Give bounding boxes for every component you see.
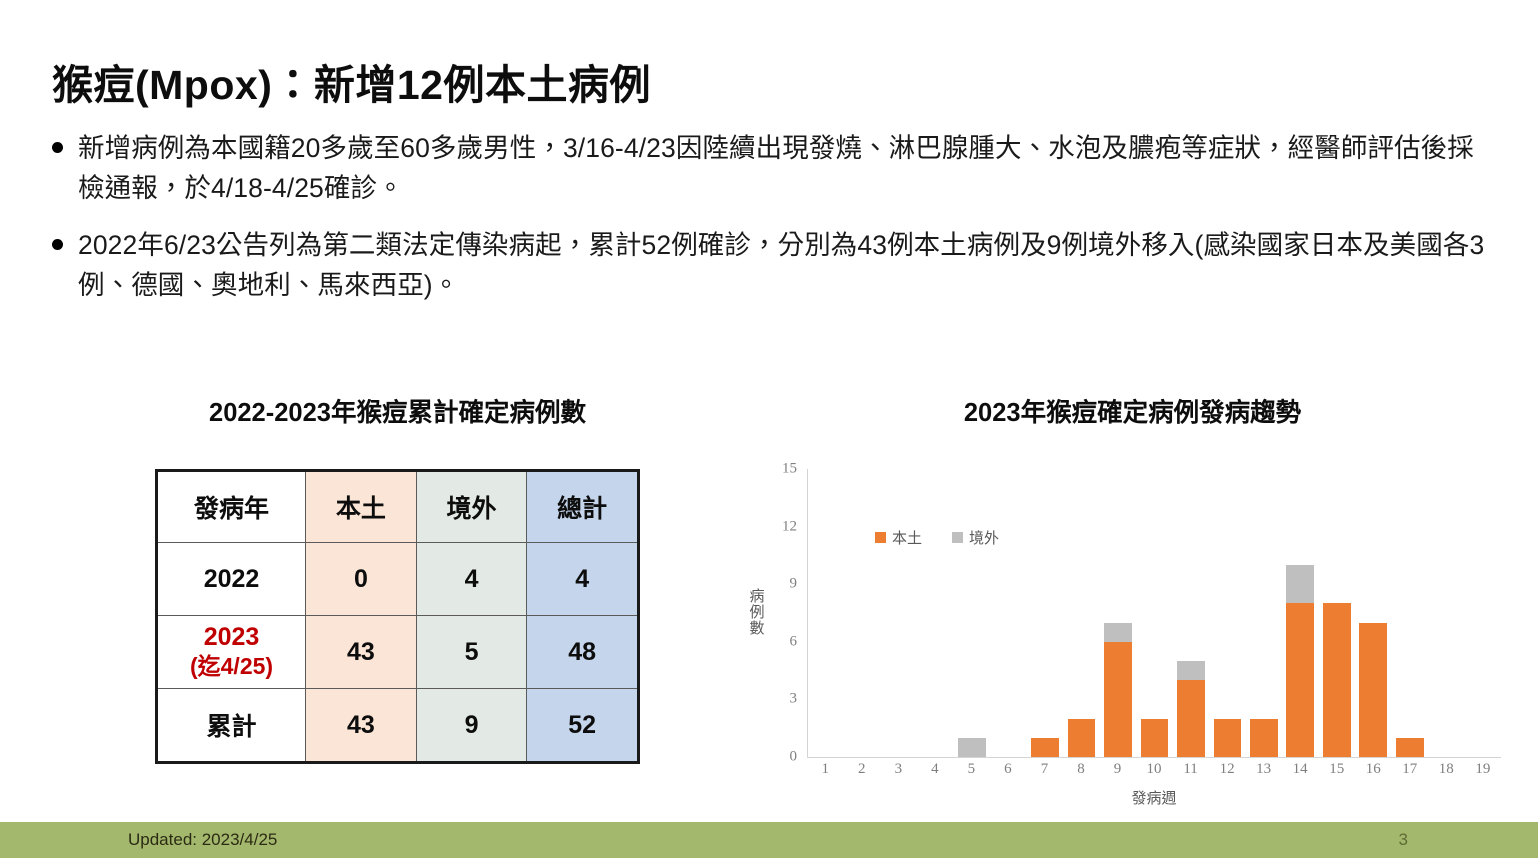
bar-segment-local <box>1214 719 1242 757</box>
bar-segment-local <box>1104 642 1132 757</box>
bar-group-week-4[interactable] <box>917 469 953 757</box>
cell-year: 2022 <box>157 543 306 616</box>
cumulative-cases-block: 2022-2023年猴痘累計確定病例數 發病年 本土 境外 總計 2022 0 … <box>155 392 640 764</box>
cell-imported: 9 <box>416 689 527 763</box>
cell-total: 4 <box>527 543 639 616</box>
slide-root: 猴痘(Mpox)：新增12例本土病例 新增病例為本國籍20多歲至60多歲男性，3… <box>0 0 1538 858</box>
page-title: 猴痘(Mpox)：新增12例本土病例 <box>52 51 651 111</box>
bar-segment-local <box>1286 603 1314 757</box>
bar-stack <box>1031 738 1059 757</box>
cell-local: 0 <box>306 543 417 616</box>
cell-imported: 4 <box>416 543 527 616</box>
legend-item-本土[interactable]: 本土 <box>875 527 922 548</box>
y-tick-label: 6 <box>790 633 798 650</box>
legend-label: 境外 <box>969 527 999 548</box>
list-item: 2022年6/23公告列為第二類法定傳染病起，累計52例確診，分別為43例本土病… <box>52 225 1492 306</box>
table-row: 2022 0 4 4 <box>157 543 639 616</box>
table-row: 2023 (迄4/25) 43 5 48 <box>157 616 639 689</box>
x-tick-label: 2 <box>844 761 881 778</box>
bar-group-week-15[interactable] <box>1319 469 1355 757</box>
x-tick-label: 11 <box>1172 761 1209 778</box>
cell-local: 43 <box>306 616 417 689</box>
x-tick-label: 19 <box>1465 761 1502 778</box>
column-header-local: 本土 <box>306 471 417 543</box>
bar-segment-imported <box>1104 623 1132 642</box>
bullet-list: 新增病例為本國籍20多歲至60多歲男性，3/16-4/23因陸續出現發燒、淋巴腺… <box>52 128 1492 321</box>
x-tick-label: 1 <box>807 761 844 778</box>
y-tick-label: 0 <box>790 749 798 766</box>
x-tick-label: 10 <box>1136 761 1173 778</box>
bar-group-week-16[interactable] <box>1355 469 1391 757</box>
column-header-total: 總計 <box>527 471 639 543</box>
bar-group-week-13[interactable] <box>1246 469 1282 757</box>
bar-group-week-7[interactable] <box>1027 469 1063 757</box>
column-header-year: 發病年 <box>157 471 306 543</box>
x-tick-label: 14 <box>1282 761 1319 778</box>
bar-group-week-6[interactable] <box>990 469 1026 757</box>
cell-imported: 5 <box>416 616 527 689</box>
footer-bar: Updated: 2023/4/25 3 <box>0 822 1538 858</box>
bullet-dot-icon <box>52 142 63 153</box>
bar-segment-local <box>1068 719 1096 757</box>
x-tick-label: 8 <box>1063 761 1100 778</box>
bar-group-week-17[interactable] <box>1392 469 1428 757</box>
legend-label: 本土 <box>892 527 922 548</box>
table-row: 累計 43 9 52 <box>157 689 639 763</box>
x-tick-label: 18 <box>1428 761 1465 778</box>
cell-year-main: 2023 <box>204 623 260 651</box>
bar-segment-local <box>1359 623 1387 757</box>
table-header-row: 發病年 本土 境外 總計 <box>157 471 639 543</box>
bar-segment-local <box>1141 719 1169 757</box>
chart-title: 2023年猴痘確定病例發病趨勢 <box>745 392 1520 429</box>
cell-local: 43 <box>306 689 417 763</box>
bar-group-week-19[interactable] <box>1464 469 1500 757</box>
column-header-imported: 境外 <box>416 471 527 543</box>
bar-stack <box>1286 565 1314 757</box>
bullet-text: 2022年6/23公告列為第二類法定傳染病起，累計52例確診，分別為43例本土病… <box>78 225 1492 306</box>
legend-item-境外[interactable]: 境外 <box>952 527 999 548</box>
bar-group-week-9[interactable] <box>1100 469 1136 757</box>
bar-segment-imported <box>1177 661 1205 680</box>
bar-segment-local <box>1250 719 1278 757</box>
legend-swatch-icon <box>875 532 886 543</box>
chart-plot-area <box>807 469 1501 758</box>
x-tick-label: 9 <box>1099 761 1136 778</box>
cell-year: 2023 (迄4/25) <box>157 616 306 689</box>
bar-group-week-2[interactable] <box>844 469 880 757</box>
bar-segment-local <box>1396 738 1424 757</box>
bar-segment-local <box>1031 738 1059 757</box>
chart-x-axis-label: 發病週 <box>807 787 1501 808</box>
bar-stack <box>958 738 986 757</box>
x-tick-label: 13 <box>1245 761 1282 778</box>
bar-stack <box>1177 661 1205 757</box>
bar-group-week-18[interactable] <box>1428 469 1464 757</box>
x-tick-label: 17 <box>1392 761 1429 778</box>
chart-legend: 本土境外 <box>875 527 999 548</box>
bar-stack <box>1068 719 1096 757</box>
x-tick-label: 12 <box>1209 761 1246 778</box>
bar-stack <box>1104 623 1132 757</box>
bar-segment-imported <box>1286 565 1314 603</box>
chart-x-axis: 12345678910111213141516171819 <box>807 761 1501 778</box>
cell-total: 48 <box>527 616 639 689</box>
footer-page-number: 3 <box>1399 830 1408 850</box>
bar-segment-imported <box>958 738 986 757</box>
bar-group-week-14[interactable] <box>1282 469 1318 757</box>
chart-y-axis-label: 病例數 <box>747 589 767 636</box>
bar-stack <box>1323 603 1351 757</box>
table-title: 2022-2023年猴痘累計確定病例數 <box>155 392 640 429</box>
bar-group-week-8[interactable] <box>1063 469 1099 757</box>
x-tick-label: 6 <box>990 761 1027 778</box>
bar-group-week-12[interactable] <box>1209 469 1245 757</box>
bar-group-week-10[interactable] <box>1136 469 1172 757</box>
bar-stack <box>1250 719 1278 757</box>
chart-bars <box>808 469 1501 757</box>
epi-curve-block: 2023年猴痘確定病例發病趨勢 病例數 03691215 本土境外 123456… <box>745 392 1520 814</box>
bar-stack <box>1396 738 1424 757</box>
bar-segment-local <box>1177 680 1205 757</box>
cell-total: 52 <box>527 689 639 763</box>
bar-group-week-1[interactable] <box>808 469 844 757</box>
bar-group-week-11[interactable] <box>1173 469 1209 757</box>
x-tick-label: 16 <box>1355 761 1392 778</box>
footer-updated-text: Updated: 2023/4/25 <box>128 830 277 850</box>
bar-stack <box>1359 623 1387 757</box>
cell-year-sub: (迄4/25) <box>159 652 304 680</box>
legend-swatch-icon <box>952 532 963 543</box>
y-tick-label: 3 <box>790 691 798 708</box>
bar-stack <box>1141 719 1169 757</box>
x-tick-label: 3 <box>880 761 917 778</box>
x-tick-label: 15 <box>1318 761 1355 778</box>
bar-group-week-3[interactable] <box>881 469 917 757</box>
chart-y-axis: 03691215 <box>769 469 803 757</box>
y-tick-label: 9 <box>790 576 798 593</box>
bar-stack <box>1214 719 1242 757</box>
cumulative-cases-table: 發病年 本土 境外 總計 2022 0 4 4 2023 (迄4/25) <box>155 469 640 764</box>
x-tick-label: 5 <box>953 761 990 778</box>
bar-segment-local <box>1323 603 1351 757</box>
x-tick-label: 4 <box>917 761 954 778</box>
x-tick-label: 7 <box>1026 761 1063 778</box>
y-tick-label: 15 <box>782 461 797 478</box>
y-tick-label: 12 <box>782 518 797 535</box>
cell-year: 累計 <box>157 689 306 763</box>
bar-group-week-5[interactable] <box>954 469 990 757</box>
bullet-dot-icon <box>52 239 63 250</box>
list-item: 新增病例為本國籍20多歲至60多歲男性，3/16-4/23因陸續出現發燒、淋巴腺… <box>52 128 1492 209</box>
bar-chart: 病例數 03691215 本土境外 1234567891011121314151… <box>745 469 1505 814</box>
bullet-text: 新增病例為本國籍20多歲至60多歲男性，3/16-4/23因陸續出現發燒、淋巴腺… <box>78 128 1492 209</box>
